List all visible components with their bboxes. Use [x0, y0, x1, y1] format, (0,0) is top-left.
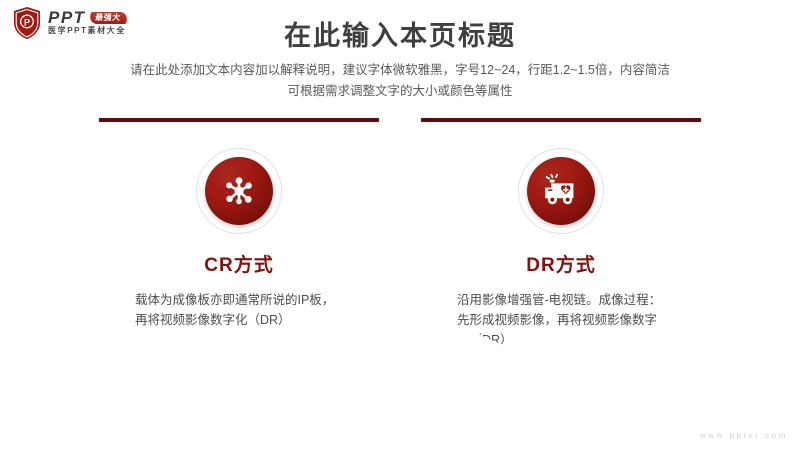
watermark: www.ppter.com [700, 431, 788, 440]
card-dr[interactable]: DR方式 沿用影像增强管-电视链。成像过程：先形成视频影像，再将视频影像数字化（… [421, 118, 701, 370]
icon-ring-dr [518, 148, 604, 234]
molecule-icon [205, 157, 273, 225]
icon-ring-cr [196, 148, 282, 234]
card-group: CR方式 载体为成像板亦即通常所说的IP板，再将视频影像数字化（DR） [0, 118, 800, 388]
card-body-cr: 载体为成像板亦即通常所说的IP板，再将视频影像数字化（DR） [135, 290, 343, 330]
page-title: 在此输入本页标题 [0, 14, 800, 53]
card-title-cr: CR方式 [99, 250, 379, 277]
card-cr[interactable]: CR方式 载体为成像板亦即通常所说的IP板，再将视频影像数字化（DR） [99, 118, 379, 370]
subtitle-line-1: 请在此处添加文本内容加以解释说明，建议字体微软雅黑，字号12~24，行距1.2~… [0, 60, 800, 81]
subtitle-line-2: 可根据需求调整文字的大小或颜色等属性 [0, 81, 800, 102]
page-subtitle: 请在此处添加文本内容加以解释说明，建议字体微软雅黑，字号12~24，行距1.2~… [0, 60, 800, 102]
ambulance-icon [527, 157, 595, 225]
card-title-dr: DR方式 [421, 250, 701, 277]
card-body-dr: 沿用影像增强管-电视链。成像过程：先形成视频影像，再将视频影像数字化（DR） [457, 290, 665, 350]
